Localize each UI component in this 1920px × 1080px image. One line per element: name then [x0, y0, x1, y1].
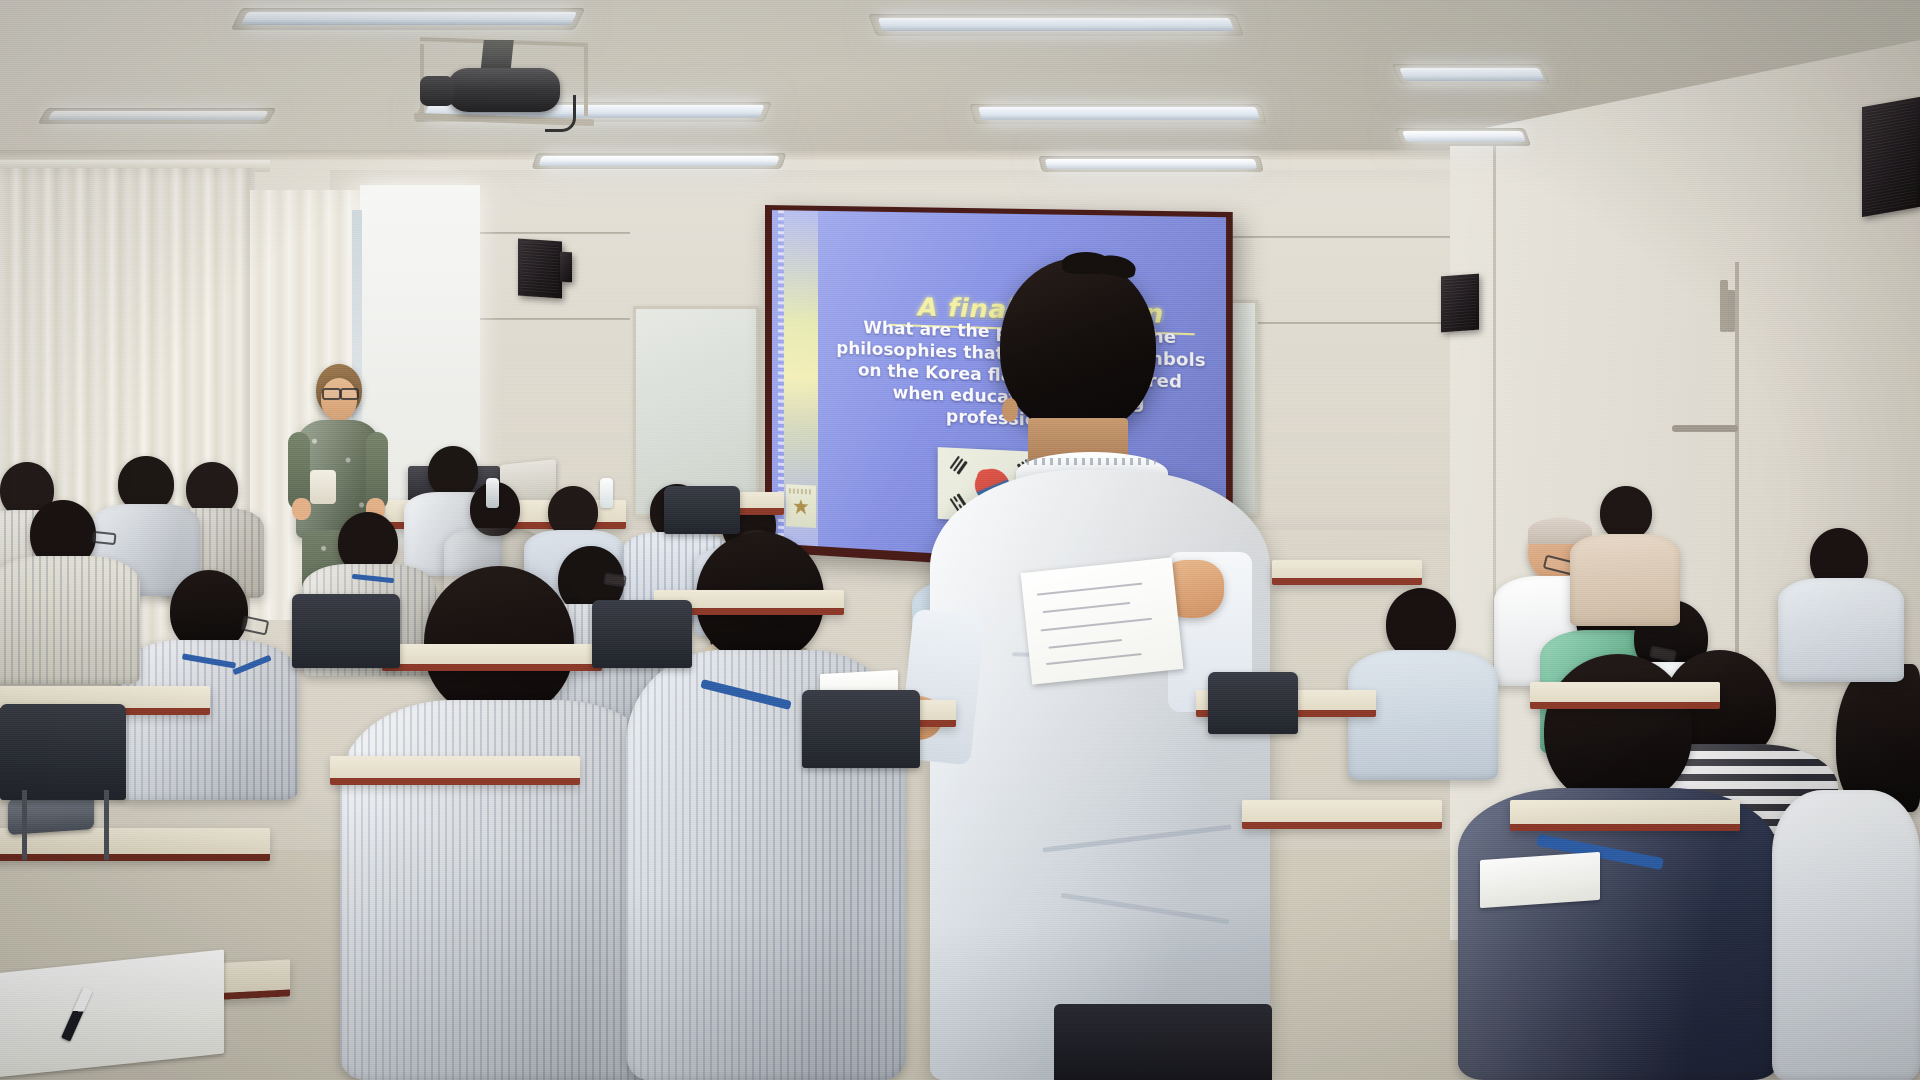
ceiling-light [241, 12, 577, 25]
glasses-icon [91, 531, 116, 545]
trigram-geon-icon [950, 456, 969, 476]
ceiling-light [878, 18, 1235, 31]
desk [1242, 800, 1442, 829]
ceiling-light [538, 156, 779, 166]
desk [1530, 682, 1720, 709]
crest-icon [793, 499, 808, 515]
desk [330, 756, 580, 785]
desk [0, 828, 270, 861]
classroom-scene: A final question What are the possibilit… [0, 0, 1920, 1080]
ceiling-light [1045, 159, 1257, 169]
door-handle[interactable] [1672, 425, 1738, 432]
notebook[interactable] [1480, 852, 1600, 908]
door-hinge [1727, 290, 1735, 332]
chair[interactable] [592, 600, 692, 668]
ceiling-light [978, 107, 1260, 120]
presenter-notes [310, 470, 336, 504]
desk [1510, 800, 1740, 831]
ceiling-light [47, 111, 268, 120]
projector-lens-icon [420, 76, 454, 106]
ceiling-light [1399, 68, 1545, 81]
projector-cable [545, 95, 576, 132]
projector [448, 68, 560, 112]
chair[interactable] [1208, 672, 1298, 734]
speaker-left-bracket [560, 252, 572, 283]
desk [1272, 560, 1422, 585]
chair[interactable] [292, 594, 400, 668]
presenter-hand-left [292, 498, 311, 520]
speaker-right [1441, 274, 1479, 333]
water-bottle[interactable] [600, 478, 613, 508]
desk [382, 644, 602, 671]
speaker-far-right [1862, 97, 1920, 217]
door-edge [1735, 262, 1739, 692]
speaker-left [518, 238, 562, 298]
water-bottle[interactable] [486, 478, 499, 508]
ceiling-light [1402, 131, 1526, 142]
standing-attendee-trousers [1054, 1004, 1272, 1080]
standing-attendee-hair [1000, 258, 1156, 434]
slide-logo-emblem [786, 484, 816, 528]
handwritten-notes[interactable] [1021, 557, 1184, 684]
notebook[interactable] [0, 949, 224, 1078]
wall-bracket [1720, 280, 1728, 332]
chair[interactable] [664, 486, 740, 534]
glasses-icon [340, 388, 359, 400]
chair[interactable] [0, 704, 126, 800]
collar-stitching [1026, 458, 1156, 465]
chair[interactable] [802, 690, 920, 768]
glasses-icon [322, 388, 341, 400]
projector-mount-post [584, 46, 588, 116]
